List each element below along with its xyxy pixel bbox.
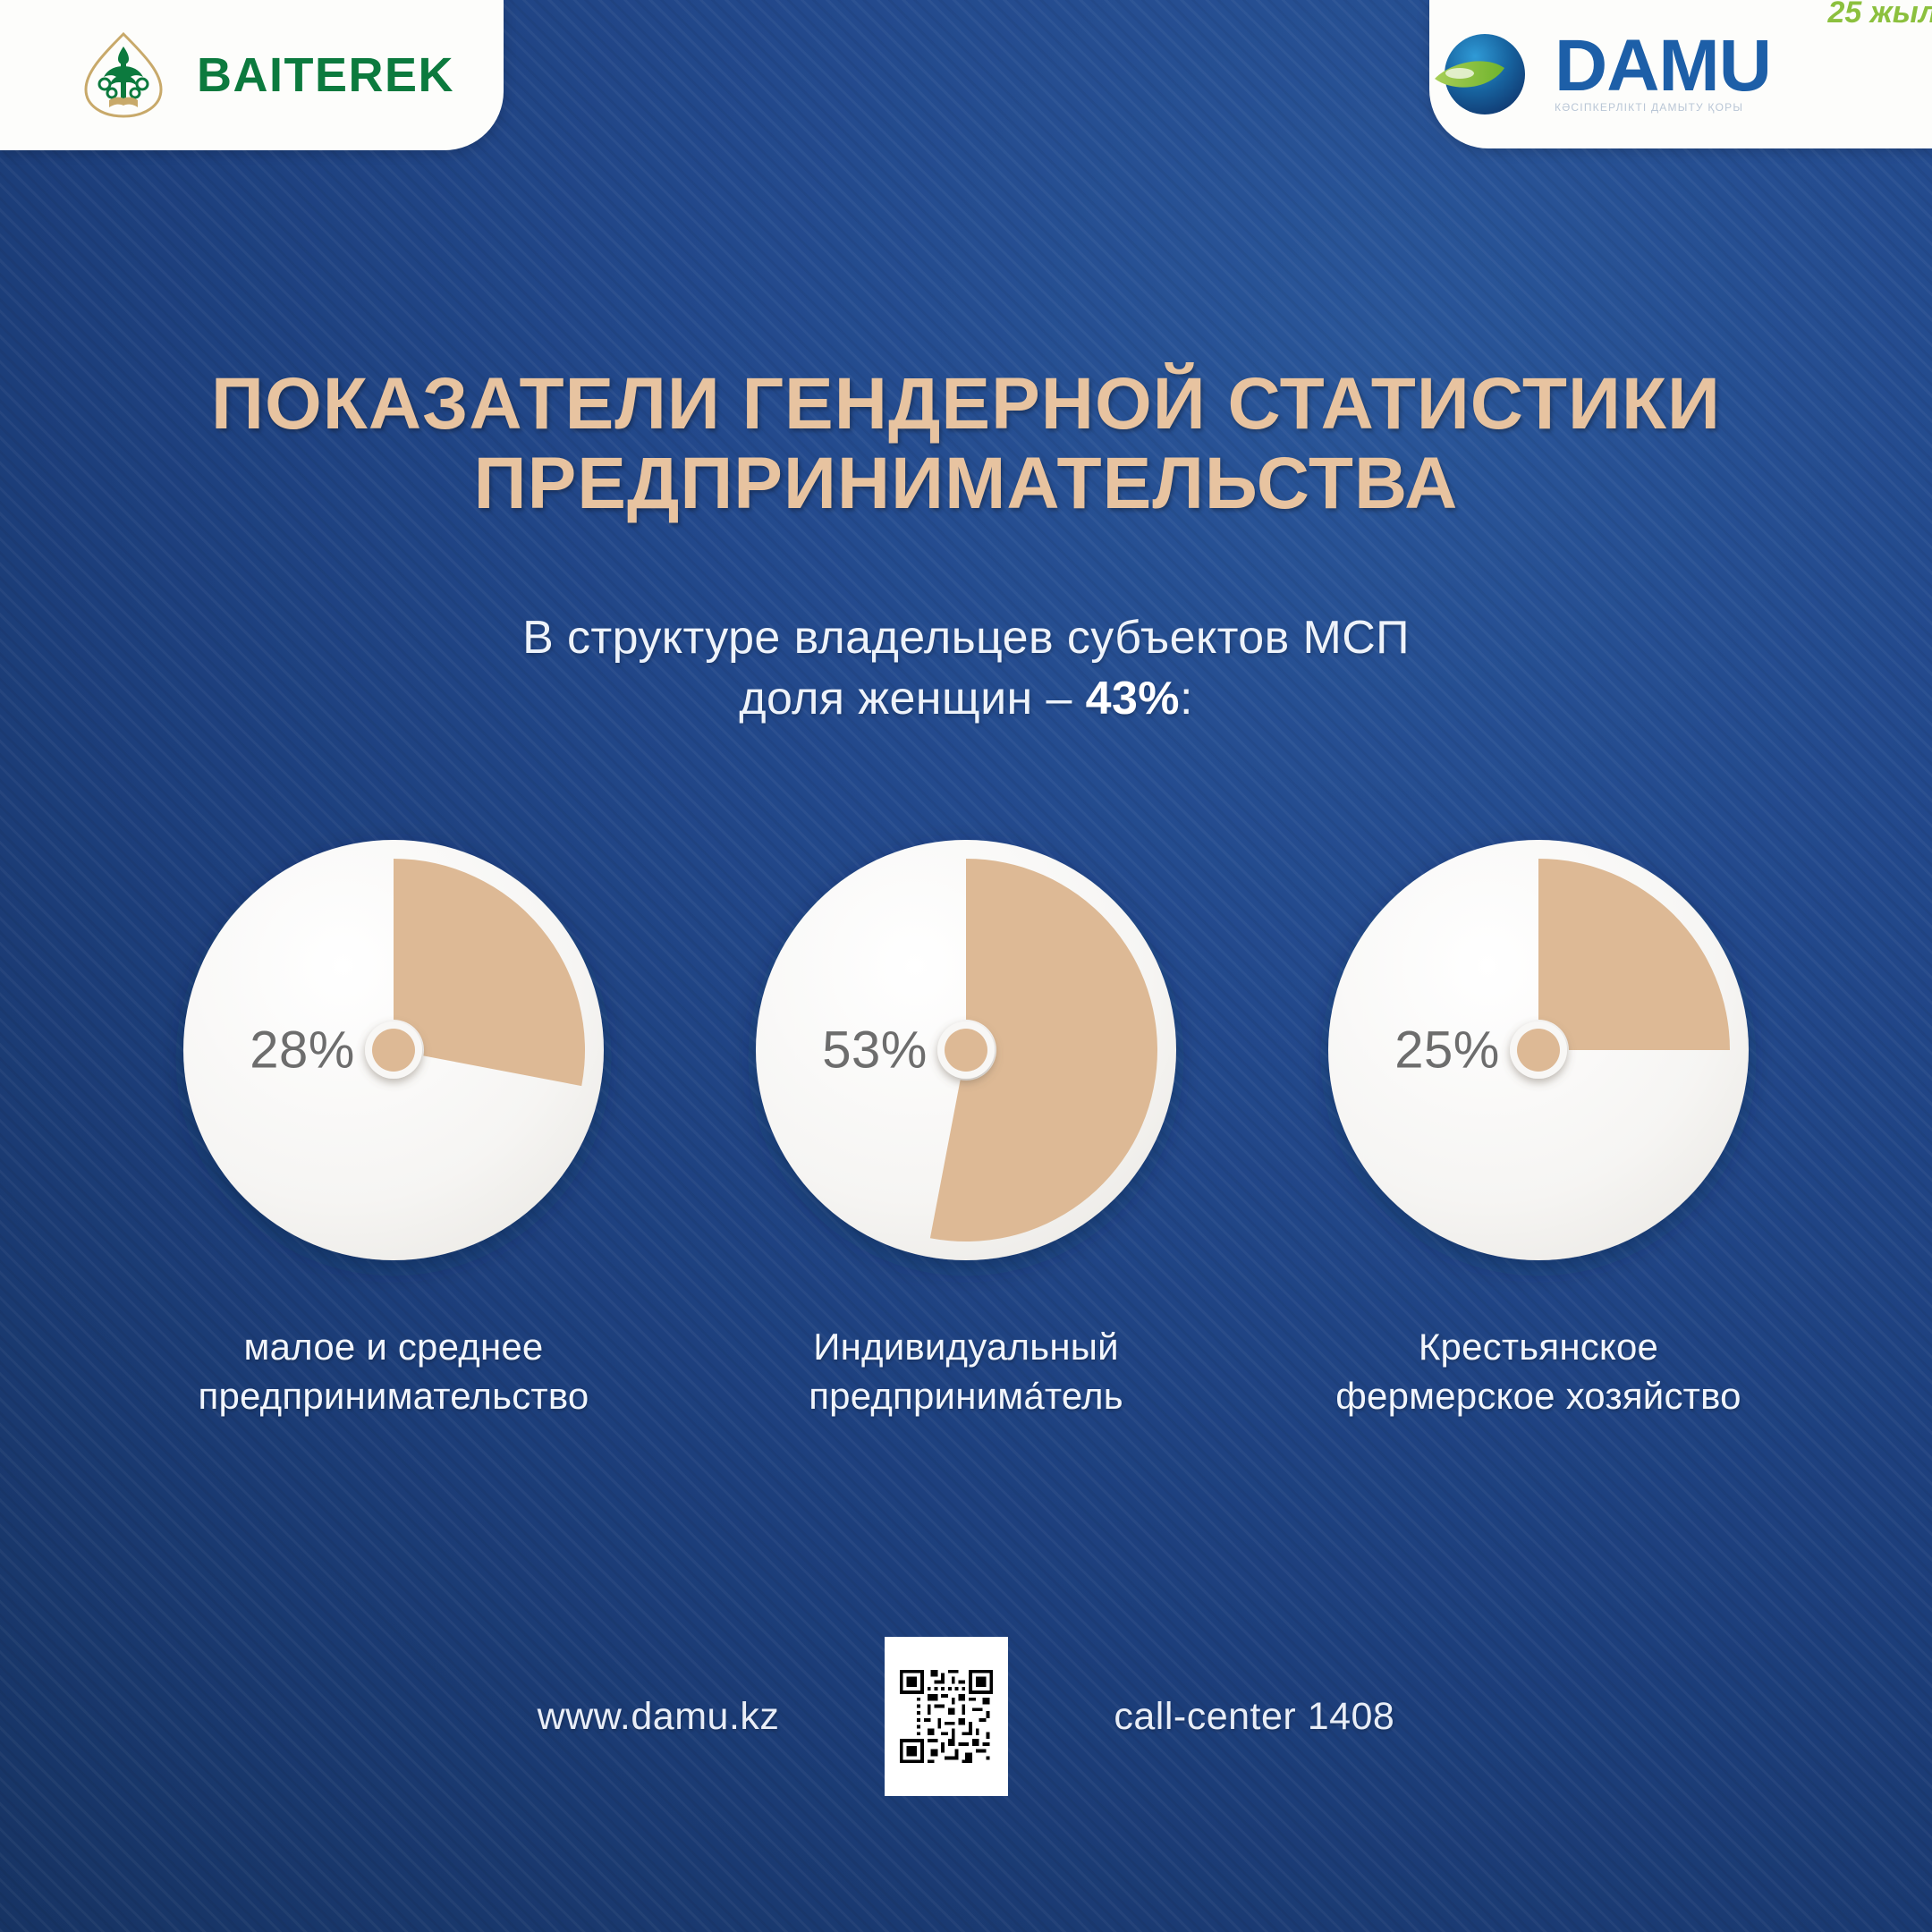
call-center-label: call-center 1408 [1114, 1695, 1394, 1739]
qr-code-icon[interactable] [885, 1637, 1008, 1796]
pie-value-label: 53% [799, 1021, 951, 1080]
pie-chart-cell: 25% Крестьянское фермерское хозяйство [1319, 836, 1758, 1420]
damu-globe-leaf-icon [1429, 21, 1535, 127]
pie-chart-cell: 28% малое и среднее предпринимательство [174, 836, 613, 1420]
page-title: ПОКАЗАТЕЛИ ГЕНДЕРНОЙ СТАТИСТИКИ ПРЕДПРИН… [0, 365, 1932, 523]
subtitle-line-2-prefix: доля женщин – [739, 673, 1085, 724]
baiterek-logo-panel: BAITEREK [0, 0, 504, 150]
pie-chart-farm: 25% [1325, 836, 1752, 1264]
damu-tagline: КӘСІПКЕРЛІКТІ ДАМЫТУ ҚОРЫ [1555, 101, 1743, 114]
website-link[interactable]: www.damu.kz [538, 1695, 780, 1739]
subtitle-line-2-suffix: : [1180, 673, 1193, 724]
baiterek-wordmark: BAITEREK [197, 51, 454, 99]
subtitle-line-1: В структуре владельцев субъектов МСП [522, 612, 1410, 664]
pie-value-label: 25% [1371, 1021, 1523, 1080]
pie-chart-group: 28% малое и среднее предпринимательство [0, 836, 1932, 1420]
damu-wordmark: DAMU [1555, 25, 1771, 106]
infographic-poster: BAITEREK [0, 0, 1932, 1932]
footer: www.damu.kz [0, 1637, 1932, 1796]
damu-wordmark-block: 25 жыл DAMU КӘСІПКЕРЛІКТІ ДАМЫТУ ҚОРЫ [1555, 33, 1932, 115]
baiterek-tree-icon [82, 30, 165, 120]
pie-category-label: Крестьянское фермерское хозяйство [1335, 1323, 1741, 1420]
damu-anniversary-label: 25 жыл [1828, 0, 1932, 30]
pie-chart-sme: 28% [180, 836, 607, 1264]
pie-chart-individual-entrepreneur: 53% [752, 836, 1180, 1264]
subtitle-highlight-value: 43% [1086, 673, 1180, 724]
pie-value-label: 28% [226, 1021, 378, 1080]
pie-category-label: Индивидуальный предпринима́тель [809, 1323, 1123, 1420]
pie-chart-cell: 53% Индивидуальный предпринима́тель [747, 836, 1185, 1420]
page-subtitle: В структуре владельцев субъектов МСП дол… [0, 608, 1932, 729]
damu-logo-panel: 25 жыл DAMU КӘСІПКЕРЛІКТІ ДАМЫТУ ҚОРЫ [1429, 0, 1932, 148]
pie-category-label: малое и среднее предпринимательство [199, 1323, 589, 1420]
